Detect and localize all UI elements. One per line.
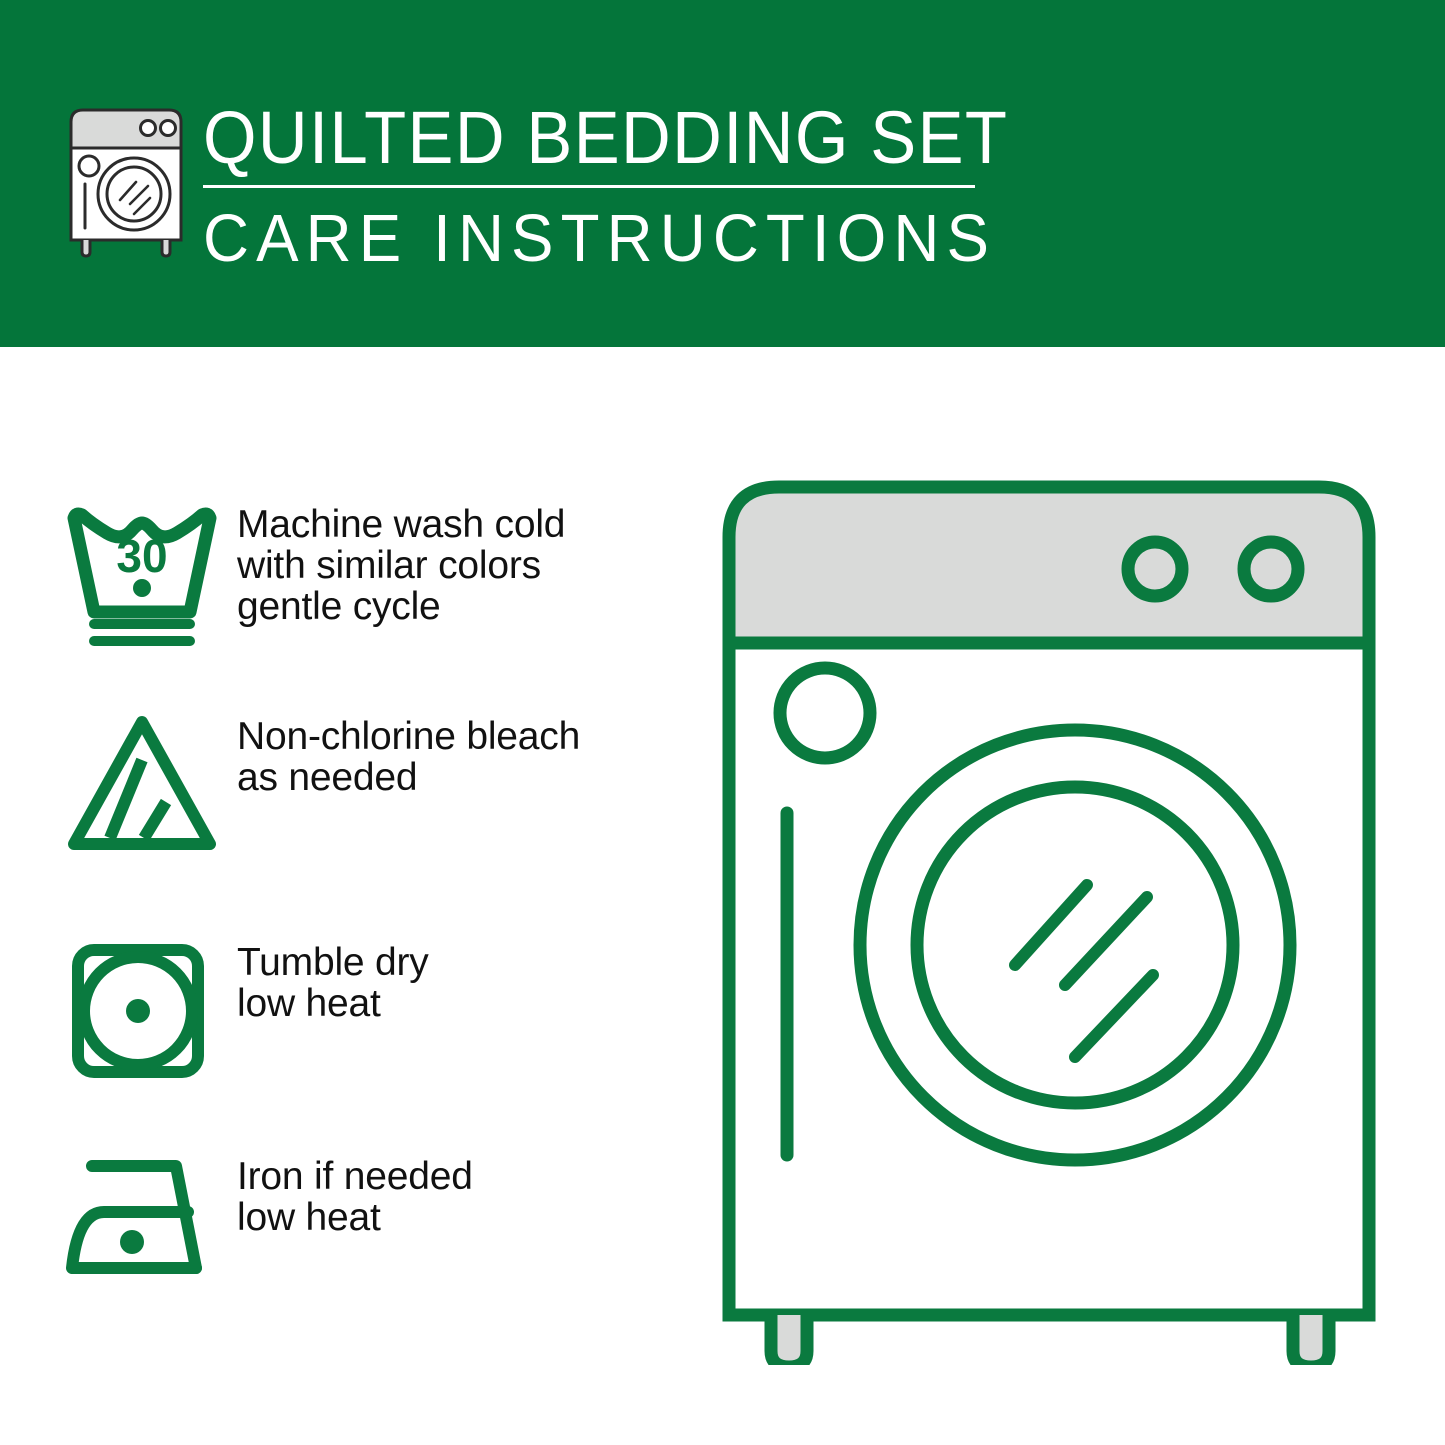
care-label-tumble-dry: Tumble dry low heat: [237, 938, 429, 1024]
care-instructions-page: QUILTED BEDDING SET CARE INSTRUCTIONS 30…: [0, 0, 1445, 1445]
care-label-iron: Iron if needed low heat: [237, 1152, 473, 1238]
care-row-machine-wash: 30 Machine wash cold with similar colors…: [62, 500, 702, 650]
title-divider: [203, 185, 975, 188]
page-title: QUILTED BEDDING SET: [203, 98, 938, 178]
svg-text:30: 30: [116, 530, 167, 582]
care-row-tumble-dry: Tumble dry low heat: [62, 938, 702, 1083]
non-chlorine-bleach-symbol: [62, 712, 237, 857]
iron-low-heat-symbol: [62, 1152, 237, 1287]
page-subtitle: CARE INSTRUCTIONS: [203, 202, 954, 276]
tumble-dry-low-symbol: [62, 938, 237, 1083]
washing-machine-icon: [62, 100, 190, 260]
care-label-machine-wash: Machine wash cold with similar colors ge…: [237, 500, 565, 627]
machine-wash-30-gentle-symbol: 30: [62, 500, 237, 650]
header-text-block: QUILTED BEDDING SET CARE INSTRUCTIONS: [203, 98, 993, 276]
front-load-washing-machine-illustration: [715, 465, 1405, 1365]
care-label-bleach: Non-chlorine bleach as needed: [237, 712, 580, 798]
header-band: QUILTED BEDDING SET CARE INSTRUCTIONS: [0, 0, 1445, 347]
care-row-iron: Iron if needed low heat: [62, 1152, 702, 1287]
care-row-bleach: Non-chlorine bleach as needed: [62, 712, 702, 857]
